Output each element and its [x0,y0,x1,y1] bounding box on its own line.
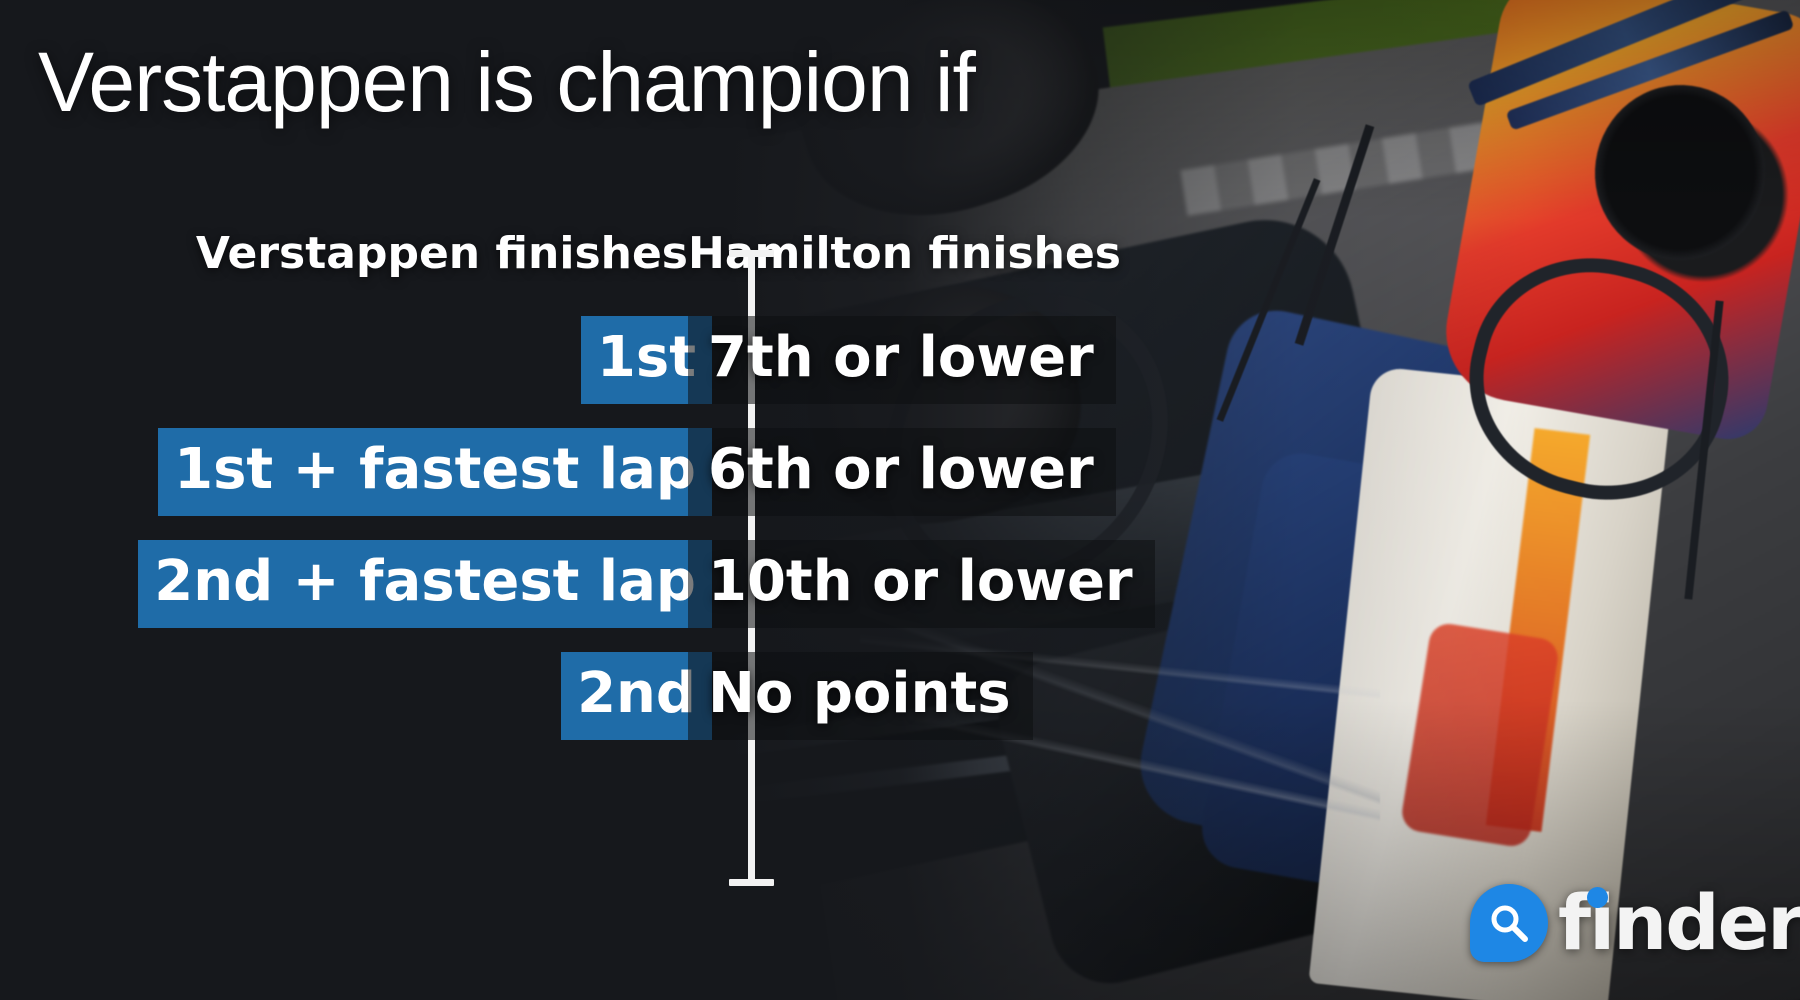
hamilton-result-3: 10th or lower [688,540,1155,628]
finder-logo: finder [1470,880,1800,966]
table-row: 1st 7th or lower [0,316,1800,428]
magnifying-glass-icon [1470,884,1548,962]
table-row: 2nd + fastest lap 10th or lower [0,540,1800,652]
comparison-table: 1st 7th or lower 1st + fastest lap 6th o… [0,316,1800,764]
column-header-verstappen: Verstappen finishes [196,228,688,279]
verstappen-result-2: 1st + fastest lap [158,428,712,516]
finder-logo-dot [1587,887,1608,908]
hamilton-result-4: No points [688,652,1033,740]
infographic-canvas: Verstappen is champion if Verstappen fin… [0,0,1800,1000]
page-title: Verstappen is champion if [38,40,975,124]
hamilton-result-1: 7th or lower [688,316,1116,404]
verstappen-result-3: 2nd + fastest lap [138,540,712,628]
table-row: 1st + fastest lap 6th or lower [0,428,1800,540]
infographic-content: Verstappen is champion if Verstappen fin… [0,0,1800,1000]
finder-wordmark: finder [1558,885,1800,961]
hamilton-result-2: 6th or lower [688,428,1116,516]
table-row: 2nd No points [0,652,1800,764]
